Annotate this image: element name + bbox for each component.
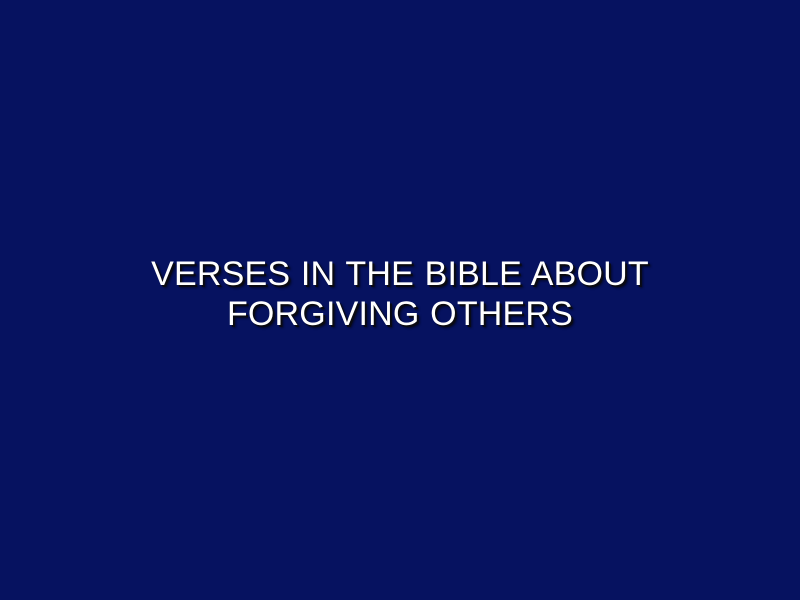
page-title: VERSES IN THE BIBLE ABOUT FORGIVING OTHE… — [50, 254, 750, 334]
title-block: VERSES IN THE BIBLE ABOUT FORGIVING OTHE… — [50, 254, 750, 346]
title-card: VERSES IN THE BIBLE ABOUT FORGIVING OTHE… — [0, 0, 800, 600]
